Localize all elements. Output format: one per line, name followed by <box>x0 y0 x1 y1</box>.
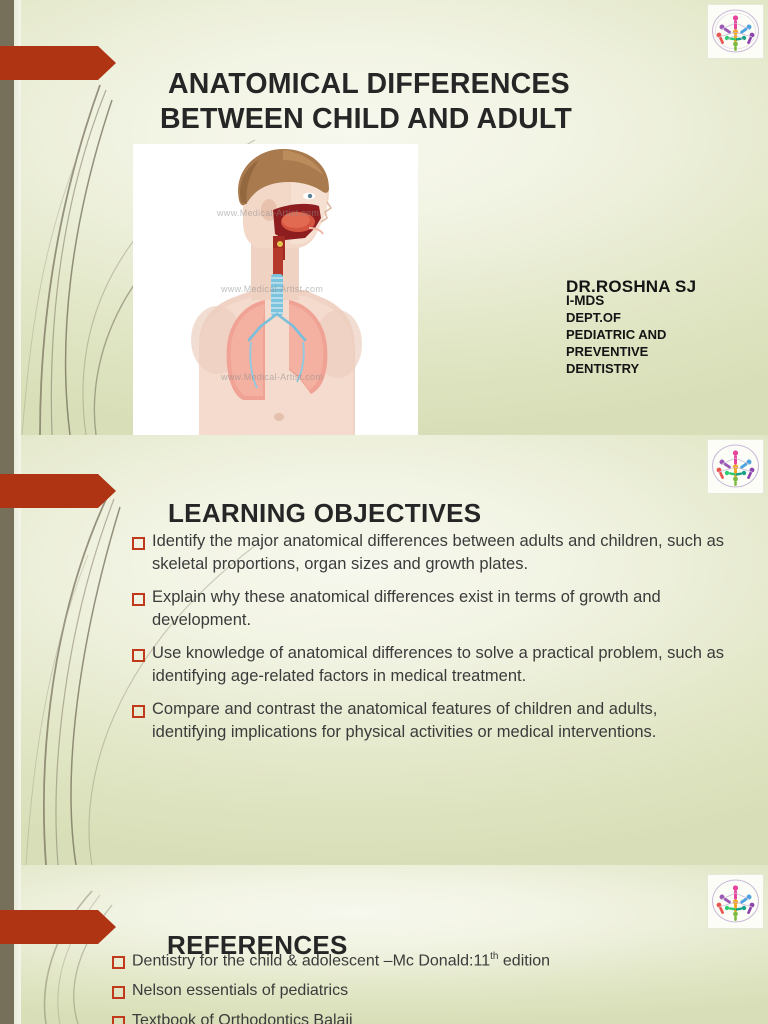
author-dept-line-3: PREVENTIVE <box>566 343 766 360</box>
square-bullet-icon <box>132 593 145 606</box>
slide-references: REFERENCES Dentistry for the child & ado… <box>0 865 768 1024</box>
college-emblem-logo <box>708 875 763 928</box>
child-respiratory-anatomy-image: www.Medical-Artist.com www.Medical-Artis… <box>133 144 418 435</box>
image-watermark-3: www.Medical-Artist.com <box>221 372 323 382</box>
slide-deck: ANATOMICAL DIFFERENCES BETWEEN CHILD AND… <box>0 0 768 1024</box>
college-emblem-logo <box>708 5 763 58</box>
author-dept-line-4: DENTISTRY <box>566 360 766 377</box>
square-bullet-icon <box>132 649 145 662</box>
left-olive-bar <box>0 865 14 1024</box>
section-accent-arrow <box>0 910 98 944</box>
list-item-text: Nelson essentials of pediatrics <box>132 980 348 1002</box>
author-year: I-MDS <box>566 293 766 308</box>
section-accent-arrow <box>0 474 98 508</box>
list-item-text: Identify the major anatomical difference… <box>152 530 732 577</box>
square-bullet-icon <box>132 537 145 550</box>
title-line-1: ANATOMICAL DIFFERENCES <box>168 68 570 100</box>
list-item-text: Use knowledge of anatomical differences … <box>152 642 732 689</box>
square-bullet-icon <box>132 705 145 718</box>
list-item: Dentistry for the child & adolescent –Mc… <box>112 950 762 972</box>
image-watermark-2: www.Medical-Artist.com <box>221 284 323 294</box>
square-bullet-icon <box>112 1016 125 1024</box>
slide-learning-objectives: LEARNING OBJECTIVES Identify the major a… <box>0 435 768 865</box>
left-light-strip <box>14 865 21 1024</box>
title-accent-arrow <box>0 46 98 80</box>
author-dept-line-1: DEPT.OF <box>566 309 766 326</box>
list-item: Use knowledge of anatomical differences … <box>132 642 732 689</box>
list-item: Explain why these anatomical differences… <box>132 586 732 633</box>
author-block: DR.ROSHNA SJ I-MDS DEPT.OF PEDIATRIC AND… <box>566 278 766 377</box>
square-bullet-icon <box>112 986 125 999</box>
college-emblem-logo <box>708 440 763 493</box>
square-bullet-icon <box>112 956 125 969</box>
list-item-text: Explain why these anatomical differences… <box>152 586 732 633</box>
list-item: Textbook of Orthodontics Balaji <box>112 1010 762 1024</box>
learning-objectives-list: Identify the major anatomical difference… <box>132 530 732 753</box>
section-heading-learning-objectives: LEARNING OBJECTIVES <box>168 498 481 529</box>
list-item-text: Dentistry for the child & adolescent –Mc… <box>132 950 550 972</box>
list-item-text: Compare and contrast the anatomical feat… <box>152 698 732 745</box>
list-item-text: Textbook of Orthodontics Balaji <box>132 1010 353 1024</box>
list-item: Identify the major anatomical difference… <box>132 530 732 577</box>
image-watermark: www.Medical-Artist.com <box>217 208 319 218</box>
author-dept-line-2: PEDIATRIC AND <box>566 326 766 343</box>
list-item: Nelson essentials of pediatrics <box>112 980 762 1002</box>
title-line-2: BETWEEN CHILD AND ADULT <box>160 102 728 137</box>
references-list: Dentistry for the child & adolescent –Mc… <box>112 950 762 1024</box>
slide-title: ANATOMICAL DIFFERENCES BETWEEN CHILD AND… <box>0 0 768 435</box>
page-title: ANATOMICAL DIFFERENCES BETWEEN CHILD AND… <box>168 67 728 137</box>
list-item: Compare and contrast the anatomical feat… <box>132 698 732 745</box>
